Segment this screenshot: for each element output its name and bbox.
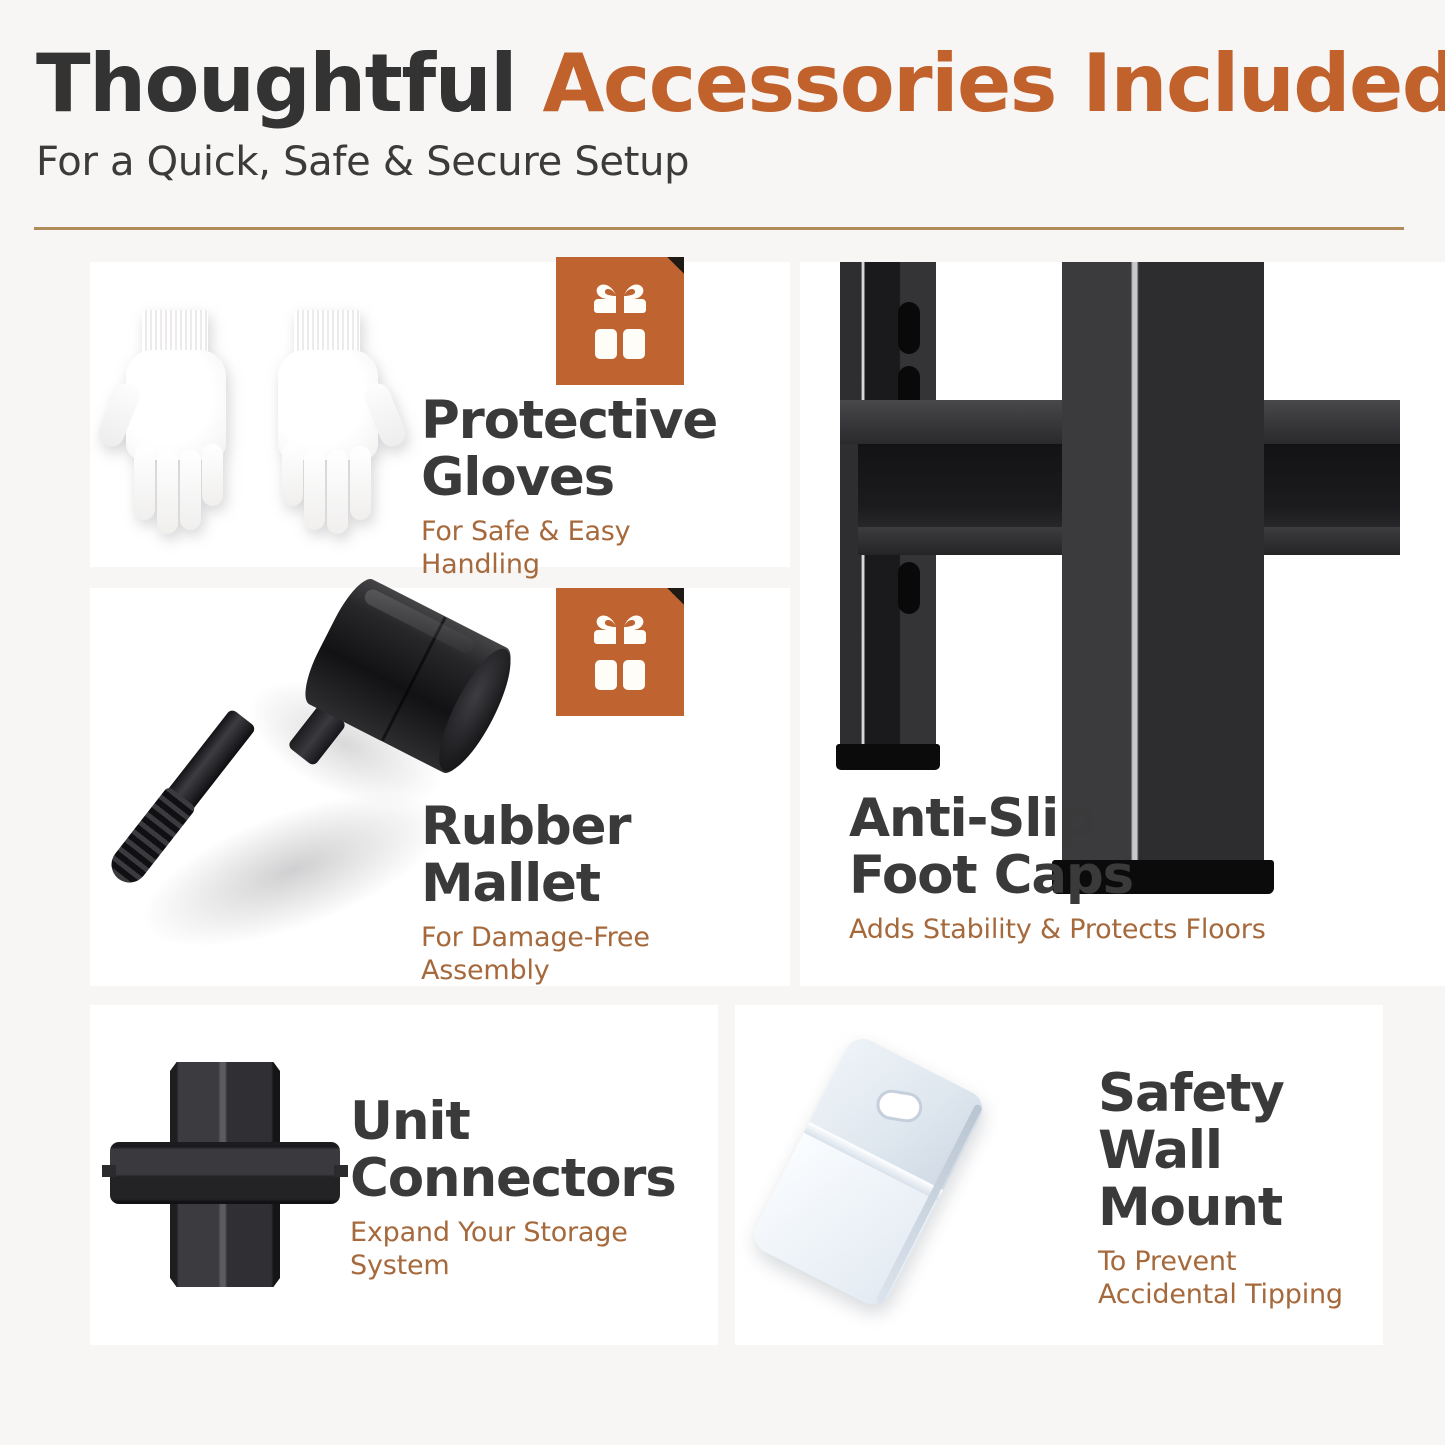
connectors-caption: Expand Your Storage System xyxy=(350,1216,710,1282)
mallet-caption: For Damage-Free Assembly xyxy=(421,921,771,987)
gloves-caption: For Safe & Easy Handling xyxy=(421,515,751,581)
unit-connector-illustration xyxy=(110,1062,340,1287)
mallet-text-block: Rubber Mallet For Damage-Free Assembly xyxy=(421,798,771,987)
header: Thoughtful Accessories Included For a Qu… xyxy=(36,40,1408,186)
foot-caps-title-line1: Anti-Slip xyxy=(849,790,1269,847)
foot-cap-rear xyxy=(836,744,940,770)
gloves-title-line2: Gloves xyxy=(421,449,751,506)
glove-finger xyxy=(180,450,201,530)
badge-folded-corner-icon xyxy=(667,257,684,274)
post-slot xyxy=(898,302,920,354)
glove-finger xyxy=(350,446,371,520)
foot-caps-text-block: Anti-Slip Foot Caps Adds Stability & Pro… xyxy=(849,790,1269,946)
gift-badge-gloves xyxy=(556,257,684,385)
glove-finger xyxy=(282,444,303,506)
foot-caps-title-line2: Foot Caps xyxy=(849,847,1269,904)
gloves-text-block: Protective Gloves For Safe & Easy Handli… xyxy=(421,392,751,581)
connectors-text-block: Unit Connectors Expand Your Storage Syst… xyxy=(350,1093,710,1282)
mallet-title-line2: Mallet xyxy=(421,855,771,912)
mallet-title-line1: Rubber xyxy=(421,798,771,855)
post-slot xyxy=(898,562,920,614)
infographic-page: Thoughtful Accessories Included For a Qu… xyxy=(0,0,1445,1445)
gloves-illustration xyxy=(108,292,408,542)
gift-icon xyxy=(576,278,664,364)
page-title: Thoughtful Accessories Included xyxy=(36,40,1408,128)
page-title-brand-part: Accessories Included xyxy=(542,37,1445,130)
gift-icon xyxy=(576,609,664,695)
glove-finger xyxy=(202,444,223,506)
page-title-dark-part: Thoughtful xyxy=(36,37,542,130)
connectors-title-line1: Unit xyxy=(350,1093,710,1150)
wall-mount-caption-line2: Accidental Tipping xyxy=(1098,1278,1398,1311)
wall-mount-illustration xyxy=(775,1048,1075,1298)
glove-finger xyxy=(157,450,178,534)
shelf-foot-caps-illustration xyxy=(800,262,1445,782)
gloves-title-line1: Protective xyxy=(421,392,751,449)
wall-mount-text-block: Safety Wall Mount To Prevent Accidental … xyxy=(1098,1065,1398,1311)
glove-left xyxy=(112,310,240,525)
glove-finger xyxy=(134,446,155,520)
wall-mount-title-line3: Mount xyxy=(1098,1179,1398,1236)
connectors-title-line2: Connectors xyxy=(350,1150,710,1207)
wall-mount-title-line2: Wall xyxy=(1098,1122,1398,1179)
wall-mount-title-line1: Safety xyxy=(1098,1065,1398,1122)
glove-finger xyxy=(304,450,325,530)
gift-badge-mallet xyxy=(556,588,684,716)
page-subtitle: For a Quick, Safe & Secure Setup xyxy=(36,138,1408,186)
foot-caps-caption: Adds Stability & Protects Floors xyxy=(849,913,1269,946)
wall-mount-caption-line1: To Prevent xyxy=(1098,1245,1398,1278)
wall-mount-bracket xyxy=(748,1033,989,1311)
glove-right xyxy=(264,310,392,525)
glove-finger xyxy=(327,450,348,534)
header-divider xyxy=(34,227,1404,230)
connector-pin-left xyxy=(102,1165,116,1177)
connector-horizontal-arm xyxy=(110,1142,340,1204)
badge-folded-corner-icon xyxy=(667,588,684,605)
connector-pin-right xyxy=(334,1165,348,1177)
